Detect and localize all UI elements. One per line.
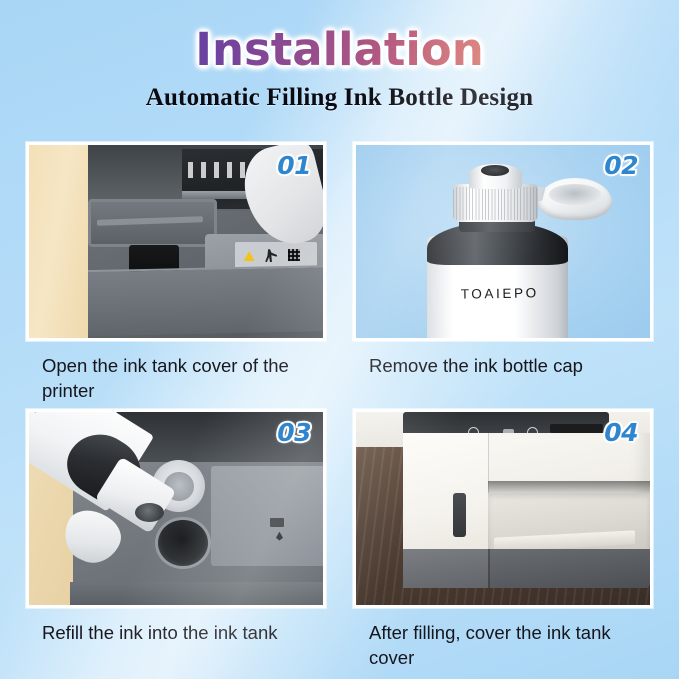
bottle-brand-label: TOAIEPO <box>438 285 562 302</box>
step-04-caption: After filling, cover the ink tank cover <box>353 608 651 670</box>
qr-code-icon <box>288 249 300 261</box>
page-title: Installation <box>0 0 679 73</box>
step-02: TOAIEPO 02 Remove the ink bottle cap <box>353 142 653 404</box>
step-number-badge-01: 01 <box>277 151 311 180</box>
step-number-badge-02: 02 <box>604 151 638 180</box>
page-subtitle: Automatic Filling Ink Bottle Design <box>0 73 679 112</box>
step-04: 04 After filling, cover the ink tank cov… <box>353 409 653 671</box>
step-03-photo: TOAIEPO XL 03 <box>26 409 326 608</box>
step-02-caption: Remove the ink bottle cap <box>353 341 651 379</box>
infographic-page: Installation Automatic Filling Ink Bottl… <box>0 0 679 679</box>
step-number-badge-04: 04 <box>604 418 638 447</box>
step-02-photo: TOAIEPO 02 <box>353 142 653 341</box>
step-04-photo: 04 <box>353 409 653 608</box>
step-number-badge-03: 03 <box>277 418 311 447</box>
step-01: 01 Open the ink tank cover of the printe… <box>26 142 326 404</box>
header: Installation Automatic Filling Ink Bottl… <box>0 0 679 112</box>
step-03: TOAIEPO XL 03 Refill the ink into the in… <box>26 409 326 671</box>
step-01-caption: Open the ink tank cover of the printer <box>26 341 324 403</box>
step-03-caption: Refill the ink into the ink tank <box>26 608 324 646</box>
step-01-photo: 01 <box>26 142 326 341</box>
steps-grid: 01 Open the ink tank cover of the printe… <box>26 142 653 671</box>
